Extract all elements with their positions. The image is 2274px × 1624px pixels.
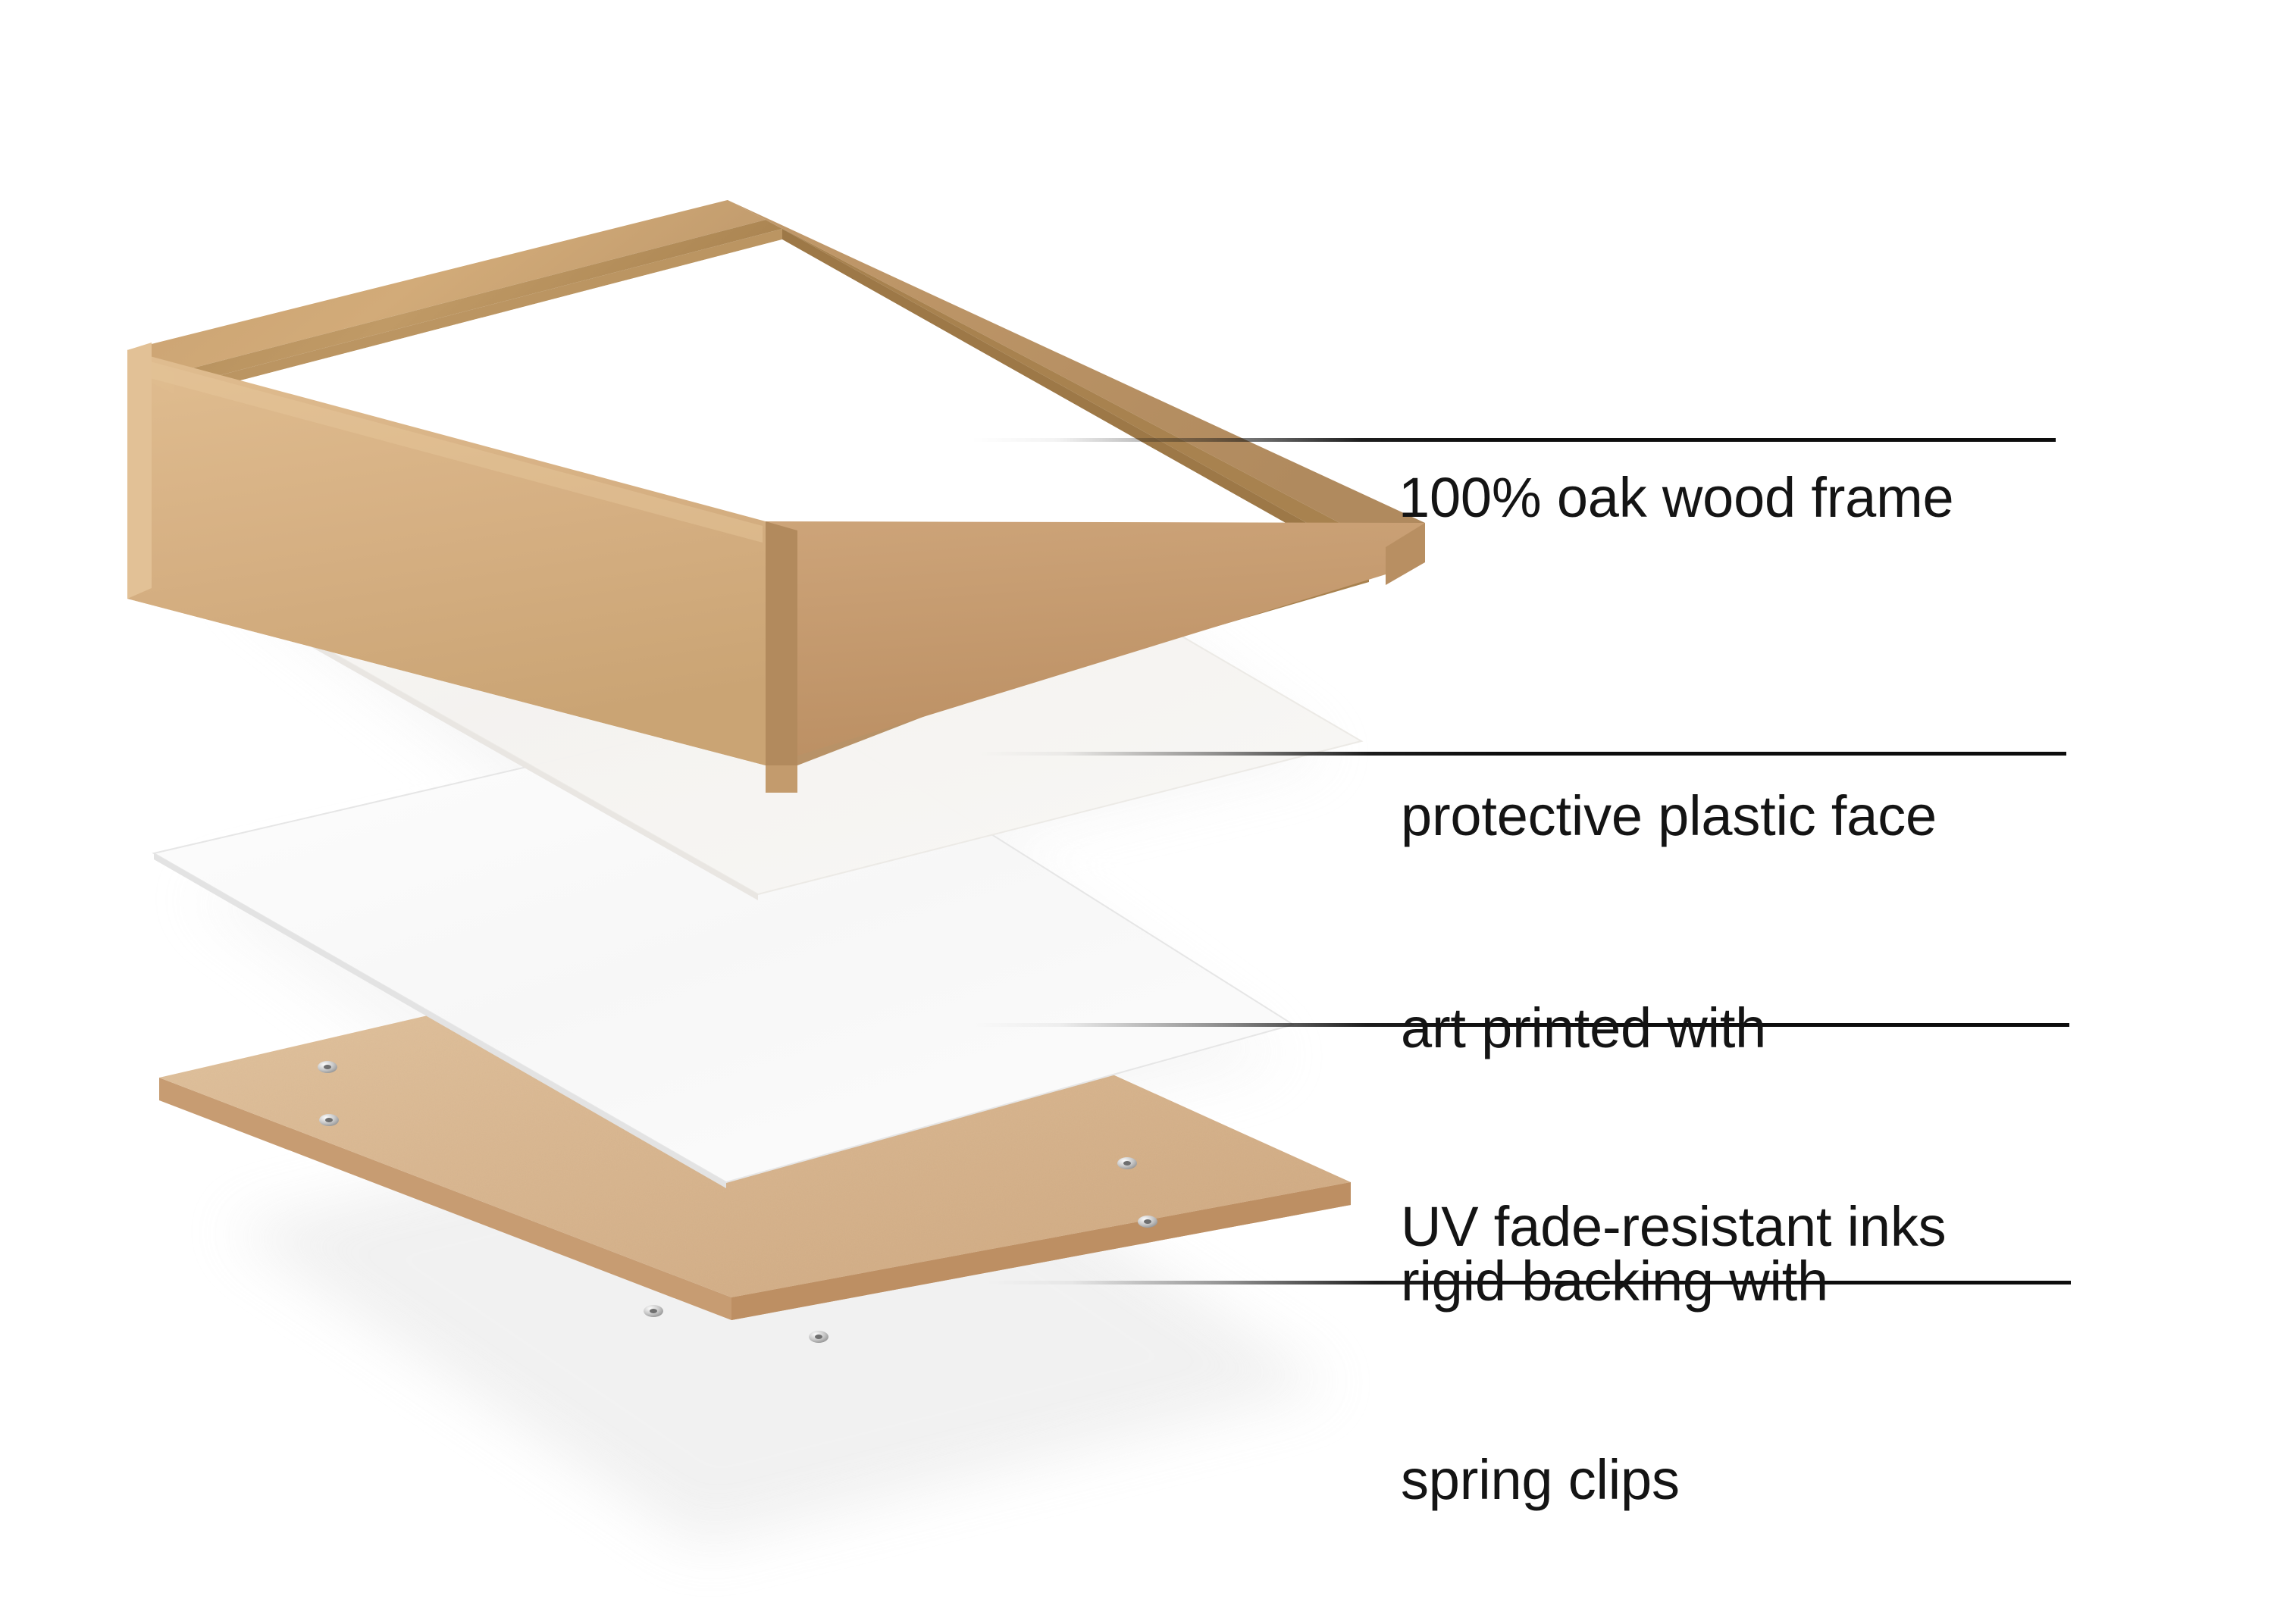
spring-clip-rivet [319, 1114, 339, 1126]
callout-oak-wood-frame: 100% oak wood frame [1399, 332, 1954, 663]
spring-clip-rivet [644, 1305, 663, 1317]
spring-clip-rivet [809, 1331, 828, 1343]
spring-clip-rivet [318, 1061, 337, 1073]
callout-line: spring clips [1401, 1447, 1828, 1513]
callout-line: art printed with [1401, 995, 1946, 1061]
callout-rigid-backing-spring-clips: rigid backing with spring clips [1401, 1116, 1828, 1624]
exploded-frame-diagram: 100% oak wood frame protective plastic f… [0, 0, 2274, 1624]
spring-clip-rivet [1117, 1157, 1137, 1169]
callout-line: 100% oak wood frame [1399, 465, 1954, 530]
spring-clip-rivet [1138, 1216, 1157, 1228]
callout-line: rigid backing with [1401, 1248, 1828, 1314]
callout-line: protective plastic face [1401, 783, 1937, 849]
